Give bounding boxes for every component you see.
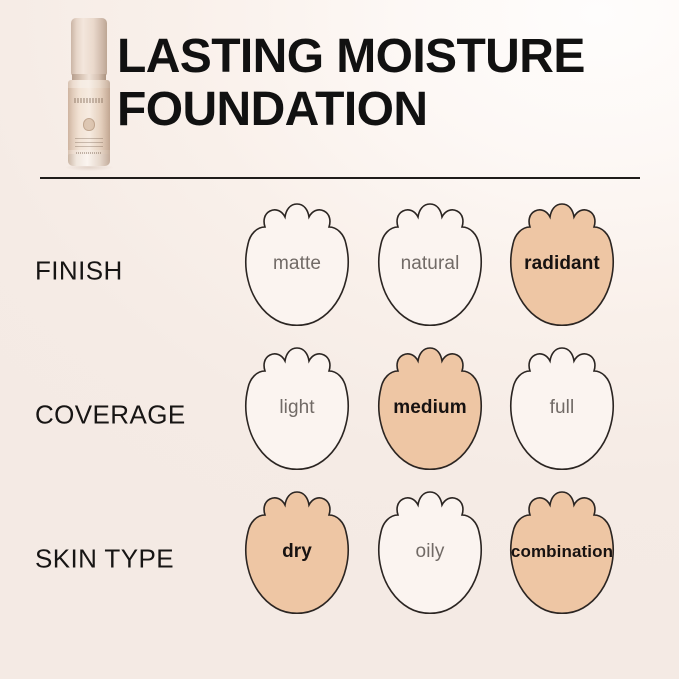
blob-shape-icon: [242, 198, 352, 330]
option-matte[interactable]: matte: [242, 198, 352, 343]
option-full[interactable]: full: [507, 342, 617, 487]
bottle-seal-emblem: [83, 118, 95, 131]
row-options-finish: matte natural radidant: [242, 198, 622, 343]
bottle-brand-logo: [74, 98, 104, 103]
bottle-base: [68, 154, 110, 166]
blob-shape-icon: [375, 198, 485, 330]
header: LASTING MOISTURE FOUNDATION: [0, 0, 679, 180]
option-oily[interactable]: oily: [375, 486, 485, 631]
blob-shape-icon: [507, 486, 617, 618]
attribute-grid: FINISH matte natural: [0, 190, 679, 660]
option-radidant[interactable]: radidant: [507, 198, 617, 343]
option-light[interactable]: light: [242, 342, 352, 487]
attribute-row-finish: FINISH matte natural: [0, 198, 679, 343]
blob-shape-icon: [375, 342, 485, 474]
blob-shape-icon: [242, 342, 352, 474]
row-label-skin-type: SKIN TYPE: [35, 543, 245, 574]
blob-shape-icon: [242, 486, 352, 618]
row-label-finish: FINISH: [35, 255, 245, 286]
option-dry[interactable]: dry: [242, 486, 352, 631]
option-combination[interactable]: combination: [507, 486, 617, 631]
blob-shape-icon: [507, 342, 617, 474]
blob-shape-icon: [375, 486, 485, 618]
row-options-coverage: light medium full: [242, 342, 622, 487]
infographic-page: LASTING MOISTURE FOUNDATION FINISH matte…: [0, 0, 679, 679]
attribute-row-coverage: COVERAGE light medium: [0, 342, 679, 487]
option-medium[interactable]: medium: [375, 342, 485, 487]
option-natural[interactable]: natural: [375, 198, 485, 343]
blob-shape-icon: [507, 198, 617, 330]
bottle-cap: [71, 18, 107, 76]
row-label-coverage: COVERAGE: [35, 399, 245, 430]
row-options-skin-type: dry oily combination: [242, 486, 622, 631]
foundation-bottle-image: [63, 18, 115, 170]
header-divider: [40, 177, 640, 179]
attribute-row-skin-type: SKIN TYPE dry oily: [0, 486, 679, 631]
page-title: LASTING MOISTURE FOUNDATION: [117, 30, 657, 136]
bottle-label-text: [75, 135, 103, 147]
